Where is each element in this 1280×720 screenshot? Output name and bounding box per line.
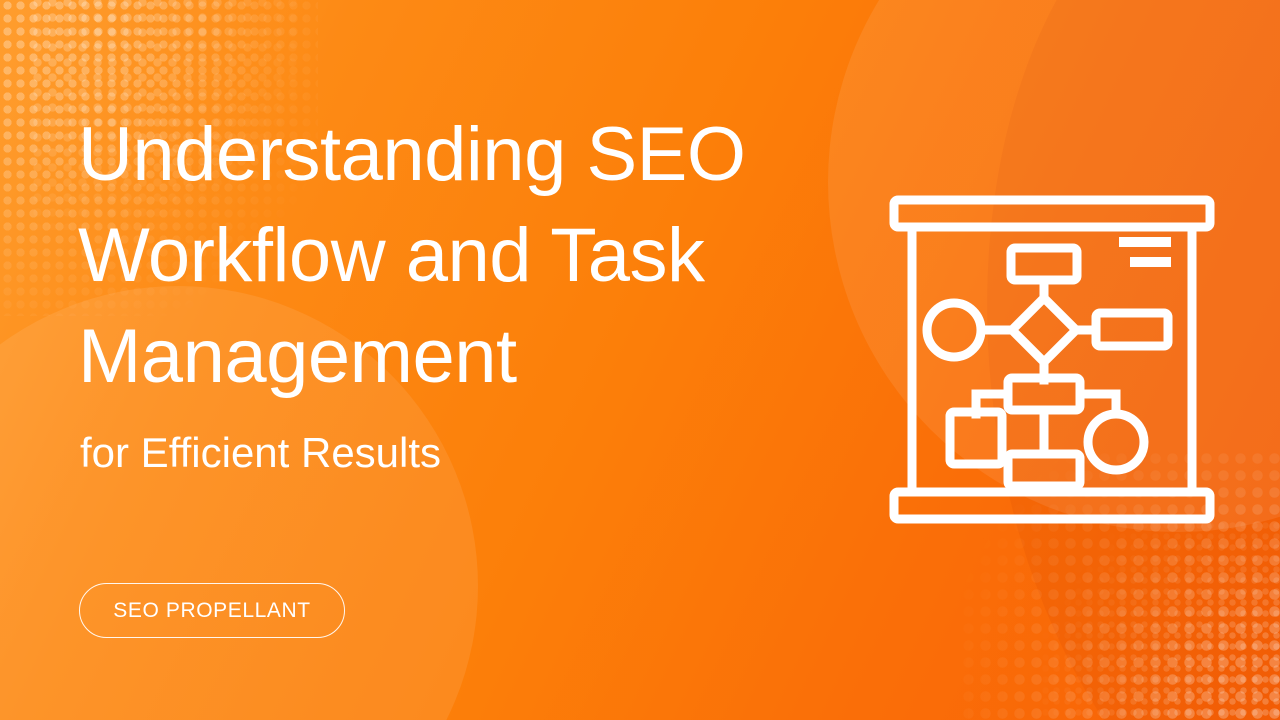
- board-top-rail-icon: [894, 200, 1210, 227]
- flow-node-top-rect-icon: [1011, 248, 1077, 280]
- flow-node-bottom-square-icon: [950, 412, 1002, 464]
- page-subtitle: for Efficient Results: [80, 424, 441, 482]
- flow-node-bottom-circle-icon: [1088, 414, 1144, 470]
- halftone-dots-bottom-right-fine-icon: [1040, 520, 1280, 720]
- flow-node-bottom-rect-icon: [1008, 454, 1080, 486]
- board-bottom-rail-icon: [894, 492, 1210, 519]
- seo-banner: Understanding SEO Workflow and Task Mana…: [0, 0, 1280, 720]
- page-title: Understanding SEO Workflow and Task Mana…: [78, 104, 878, 407]
- brand-badge-label: SEO PROPELLANT: [113, 599, 310, 623]
- flow-node-right-rect-icon: [1096, 313, 1168, 346]
- flowchart-presentation-board-icon: [884, 192, 1220, 528]
- brand-badge[interactable]: SEO PROPELLANT: [79, 583, 345, 638]
- flow-node-left-circle-icon: [927, 303, 981, 357]
- flow-node-diamond-icon: [1012, 298, 1076, 362]
- banner-content: Understanding SEO Workflow and Task Mana…: [78, 0, 878, 720]
